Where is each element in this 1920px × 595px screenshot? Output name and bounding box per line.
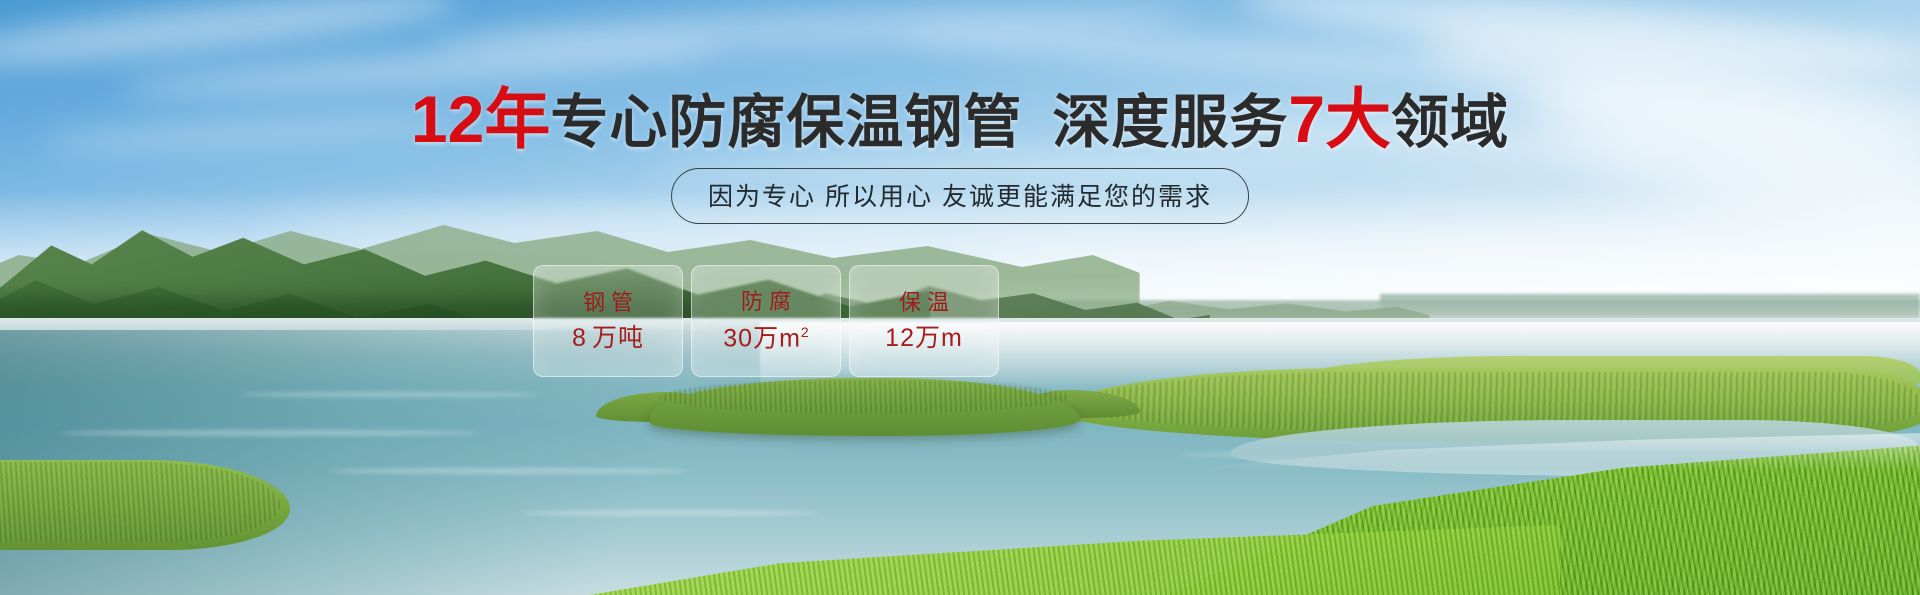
stat-value-superscript: 2: [801, 324, 809, 340]
headline-service-text: 深度服务: [1052, 90, 1288, 155]
stat-value-number: 30: [723, 324, 753, 352]
stat-card-steel-pipe[interactable]: 钢管 8万吨: [533, 265, 683, 377]
stat-card-value: 30万m2: [723, 325, 808, 351]
water-ripple: [330, 468, 690, 474]
shore-spit-texture: [0, 462, 280, 542]
headline-main-text: 专心防腐保温钢管: [550, 90, 1022, 155]
headline-fields-highlight: 7大: [1288, 82, 1391, 156]
stat-value-unit: 万吨: [592, 324, 644, 352]
distant-shoreline: [1380, 294, 1920, 310]
water-ripple: [60, 430, 480, 436]
stat-value-unit: 万m: [753, 324, 801, 352]
stat-value-unit: 万m: [915, 324, 963, 352]
stat-card-anticorrosion[interactable]: 防腐 30万m2: [691, 265, 841, 377]
banner-headline: 12年专心防腐保温钢管深度服务7大领域: [0, 86, 1920, 152]
water-ripple: [520, 510, 820, 516]
headline-years-highlight: 12年: [411, 82, 550, 156]
stat-card-label: 防腐: [735, 291, 797, 313]
stat-value-number: 8: [572, 324, 587, 352]
promo-banner: 12年专心防腐保温钢管深度服务7大领域 因为专心 所以用心 友诚更能满足您的需求…: [0, 0, 1920, 595]
stat-card-value: 8万吨: [572, 326, 644, 351]
stat-card-value: 12万m: [885, 326, 963, 351]
stat-card-label: 保温: [893, 292, 955, 314]
stat-card-label: 钢管: [577, 292, 639, 314]
stat-card-group: 钢管 8万吨 防腐 30万m2 保温 12万m: [533, 265, 999, 377]
water-ripple: [240, 392, 540, 397]
banner-subtitle-pill: 因为专心 所以用心 友诚更能满足您的需求: [671, 168, 1249, 224]
stat-value-number: 12: [885, 324, 915, 352]
stat-card-insulation[interactable]: 保温 12万m: [849, 265, 999, 377]
headline-fields-text: 领域: [1391, 90, 1509, 155]
grass-island-texture: [660, 380, 1070, 414]
